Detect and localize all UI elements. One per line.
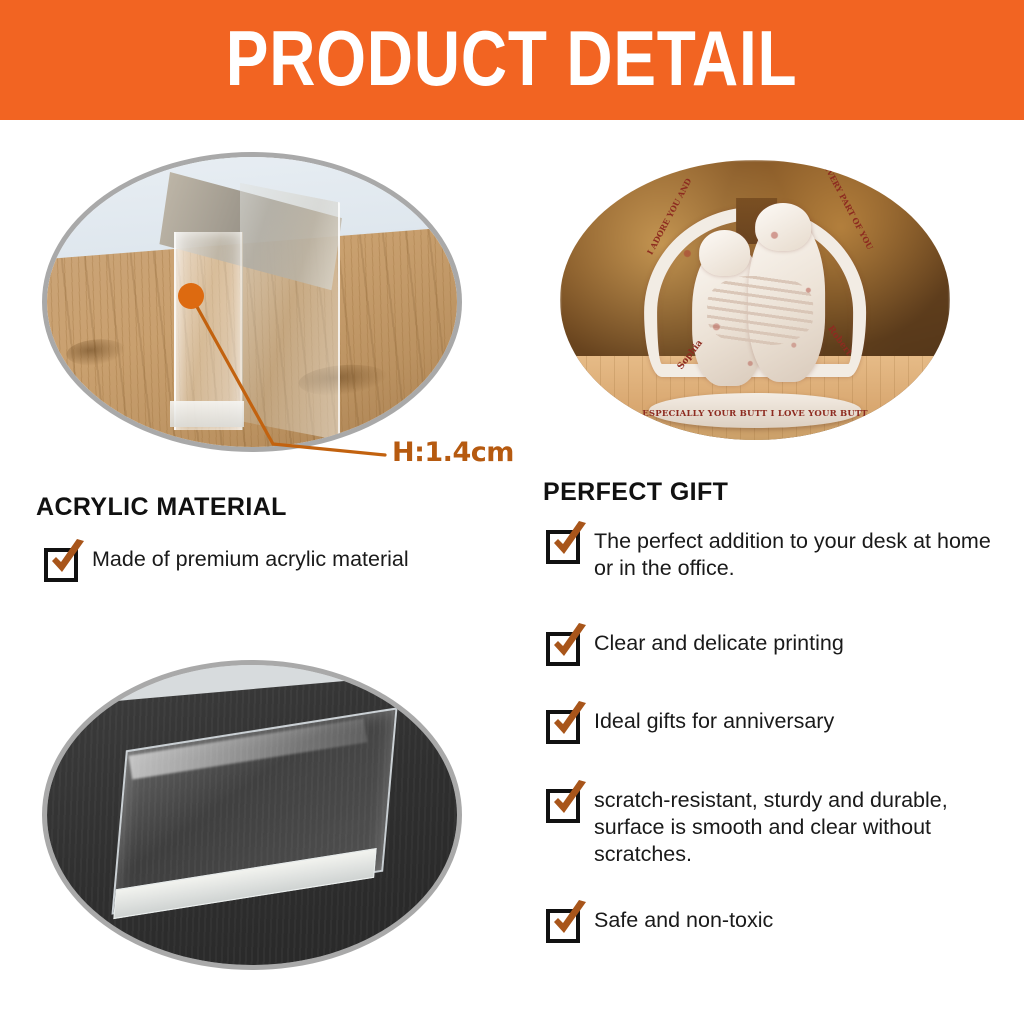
product-detail-page: PRODUCT DETAIL H:1.4cm [0, 0, 1024, 1024]
section-title-perfect-gift: PERFECT GIFT [543, 478, 728, 507]
checkmark-icon [44, 539, 88, 583]
feature-text: Clear and delicate printing [594, 630, 844, 657]
skull-left [699, 230, 750, 276]
feature-text: scratch-resistant, sturdy and durable, s… [594, 787, 1004, 868]
checkbox-checked-icon [546, 710, 580, 744]
photo-skeleton-couple-figurine: I ADORE YOU AND LOVE EVERY PART OF YOU S… [560, 160, 950, 440]
checkbox-checked-icon [546, 909, 580, 943]
wood-knot [66, 337, 128, 368]
checkmark-icon [546, 701, 590, 745]
rib-cage [707, 276, 813, 345]
checkbox-checked-icon [546, 632, 580, 666]
wood-floor-scene [47, 157, 457, 447]
checkmark-icon [546, 623, 590, 667]
height-callout-label: H:1.4cm [392, 437, 514, 468]
skull-right [755, 203, 811, 251]
feature-item: The perfect addition to your desk at hom… [546, 528, 1004, 582]
page-title: PRODUCT DETAIL [226, 19, 798, 97]
feature-text: The perfect addition to your desk at hom… [594, 528, 1004, 582]
feature-item: scratch-resistant, sturdy and durable, s… [546, 787, 1004, 868]
checkbox-checked-icon [546, 530, 580, 564]
photo-acrylic-block-edge [42, 152, 462, 452]
feature-item: Ideal gifts for anniversary [546, 708, 834, 744]
section-title-acrylic-material: ACRYLIC MATERIAL [36, 493, 287, 522]
acrylic-block-side-face [240, 183, 340, 440]
page-header-banner: PRODUCT DETAIL [0, 0, 1024, 120]
checkbox-checked-icon [546, 789, 580, 823]
acrylic-block-base-edge [170, 401, 244, 427]
figurine: I ADORE YOU AND LOVE EVERY PART OF YOU S… [634, 194, 876, 424]
callout-dot-icon [178, 283, 204, 309]
photo-acrylic-slab-on-slate [42, 660, 462, 970]
feature-text: Made of premium acrylic material [92, 546, 409, 573]
checkbox-checked-icon [44, 548, 78, 582]
feature-item: Made of premium acrylic material [44, 546, 409, 582]
checkmark-icon [546, 900, 590, 944]
feature-item: Clear and delicate printing [546, 630, 844, 666]
feature-text: Ideal gifts for anniversary [594, 708, 834, 735]
feature-text: Safe and non-toxic [594, 907, 773, 934]
feature-item: Safe and non-toxic [546, 907, 773, 943]
checkmark-icon [546, 521, 590, 565]
engraving-base-text: ESPECIALLY YOUR BUTT I LOVE YOUR BUTT [642, 409, 868, 419]
slate-scene [47, 665, 457, 965]
checkmark-icon [546, 780, 590, 824]
